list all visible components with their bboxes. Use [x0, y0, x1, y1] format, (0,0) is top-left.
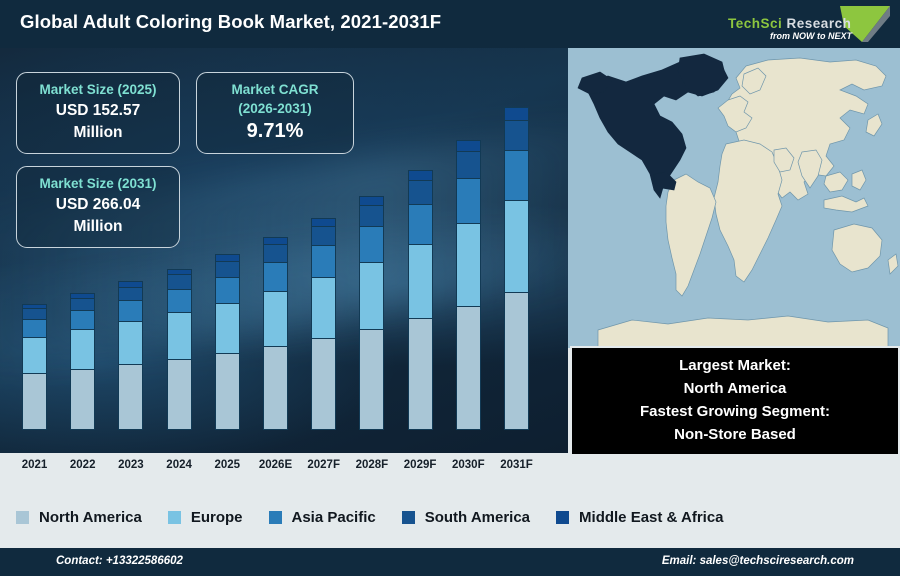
- stat-card-unit: Million: [17, 216, 179, 238]
- bar-segment: [408, 244, 433, 318]
- stat-card-label: Market Size (2025): [17, 81, 179, 100]
- bar-segment: [359, 226, 384, 262]
- x-axis-tick-label: 2027F: [300, 459, 347, 471]
- logo-tagline: from NOW to NEXT: [770, 31, 852, 41]
- bar-segment: [215, 277, 240, 303]
- bar-segment: [456, 178, 481, 223]
- bar-column: [504, 107, 529, 430]
- stat-card-market-cagr: Market CAGR (2026-2031) 9.71%: [196, 72, 354, 154]
- bar-segment: [167, 274, 192, 288]
- bar-segment: [408, 318, 433, 430]
- logo-text-techsci: TechSci: [728, 16, 782, 31]
- bar-segment: [215, 353, 240, 430]
- bar-segment: [456, 223, 481, 305]
- stat-card-value: USD 266.04: [17, 194, 179, 216]
- stat-card-market-size-2031: Market Size (2031) USD 266.04 Million: [16, 166, 180, 248]
- bar-segment: [22, 308, 47, 319]
- legend-item[interactable]: Europe: [168, 509, 243, 526]
- stat-card-value: USD 152.57: [17, 100, 179, 122]
- bar-segment: [167, 289, 192, 313]
- stat-card-label-period: (2026-2031): [197, 100, 353, 119]
- legend-swatch-icon: [168, 511, 181, 524]
- world-map-svg: [568, 48, 900, 348]
- bar-column: [167, 269, 192, 430]
- bar-column: [118, 281, 143, 430]
- legend-label: South America: [425, 509, 530, 526]
- legend-label: Asia Pacific: [292, 509, 376, 526]
- bar-segment: [504, 120, 529, 150]
- bar-segment: [118, 364, 143, 430]
- x-axis-tick-label: 2022: [59, 459, 106, 471]
- bar-segment: [118, 300, 143, 321]
- stat-card-label: Market Size (2031): [17, 175, 179, 194]
- bar-segment: [263, 244, 288, 262]
- bar-segment: [504, 292, 529, 430]
- legend-swatch-icon: [16, 511, 29, 524]
- bar-segment: [70, 310, 95, 329]
- legend-swatch-icon: [269, 511, 282, 524]
- x-axis-tick-label: 2024: [156, 459, 203, 471]
- bar-column: [22, 304, 47, 430]
- x-axis-tick-label: 2028F: [348, 459, 395, 471]
- header-bar: Global Adult Coloring Book Market, 2021-…: [0, 0, 900, 48]
- info-line-fastest-segment-label: Fastest Growing Segment:: [640, 401, 830, 424]
- bar-segment: [167, 312, 192, 359]
- bar-segment: [408, 170, 433, 180]
- bar-segment: [215, 303, 240, 353]
- bar-column: [408, 170, 433, 430]
- legend-swatch-icon: [402, 511, 415, 524]
- bar-column: [215, 254, 240, 430]
- x-axis-tick-label: 2031F: [493, 459, 540, 471]
- bar-segment: [311, 338, 336, 430]
- legend-label: North America: [39, 509, 142, 526]
- bar-segment: [504, 150, 529, 200]
- bar-column: [311, 218, 336, 430]
- page-title: Global Adult Coloring Book Market, 2021-…: [20, 11, 441, 33]
- bar-segment: [22, 373, 47, 430]
- bar-segment: [359, 262, 384, 329]
- bar-column: [70, 293, 95, 430]
- bar-segment: [504, 107, 529, 119]
- key-insights-box: Largest Market: North America Fastest Gr…: [570, 346, 900, 456]
- stat-card-label: Market CAGR: [197, 81, 353, 100]
- bar-segment: [215, 261, 240, 277]
- bar-segment: [456, 140, 481, 151]
- bar-segment: [70, 369, 95, 430]
- legend-item[interactable]: Middle East & Africa: [556, 509, 723, 526]
- world-map: [568, 48, 900, 348]
- x-axis-tick-label: 2026E: [252, 459, 299, 471]
- bar-segment: [263, 262, 288, 291]
- legend-item[interactable]: North America: [16, 509, 142, 526]
- legend-item[interactable]: South America: [402, 509, 530, 526]
- legend-label: Middle East & Africa: [579, 509, 723, 526]
- bar-segment: [118, 321, 143, 364]
- info-line-largest-market-value: North America: [684, 378, 787, 401]
- legend-swatch-icon: [556, 511, 569, 524]
- bar-segment: [311, 226, 336, 245]
- bar-segment: [22, 337, 47, 373]
- bar-column: [456, 140, 481, 430]
- bar-column: [359, 196, 384, 430]
- x-axis-tick-label: 2030F: [445, 459, 492, 471]
- footer-contact: Contact: +13322586602: [56, 555, 183, 567]
- bar-segment: [311, 245, 336, 277]
- bar-segment: [118, 287, 143, 300]
- stat-card-market-size-2025: Market Size (2025) USD 152.57 Million: [16, 72, 180, 154]
- x-axis-tick-label: 2023: [107, 459, 154, 471]
- bar-segment: [359, 196, 384, 205]
- bar-segment: [311, 277, 336, 338]
- techsci-research-logo: TechSci Research from NOW to NEXT: [722, 2, 894, 46]
- logo-text-research: Research: [782, 16, 851, 31]
- bar-segment: [504, 200, 529, 292]
- x-axis-tick-label: 2021: [11, 459, 58, 471]
- legend-label: Europe: [191, 509, 243, 526]
- bar-segment: [408, 180, 433, 204]
- x-axis-tick-label: 2025: [204, 459, 251, 471]
- bar-segment: [70, 298, 95, 310]
- bar-segment: [359, 329, 384, 430]
- bar-segment: [263, 237, 288, 244]
- info-line-fastest-segment-value: Non-Store Based: [674, 424, 796, 447]
- bar-segment: [22, 319, 47, 337]
- legend-item[interactable]: Asia Pacific: [269, 509, 376, 526]
- infographic-root: Global Adult Coloring Book Market, 2021-…: [0, 0, 900, 576]
- bar-segment: [456, 151, 481, 178]
- info-line-largest-market-label: Largest Market:: [679, 355, 791, 378]
- bar-segment: [263, 346, 288, 430]
- bar-segment: [359, 205, 384, 227]
- footer-bar: Contact: +13322586602 Email: sales@techs…: [0, 548, 900, 576]
- x-axis-tick-label: 2029F: [397, 459, 444, 471]
- footer-email: Email: sales@techsciresearch.com: [662, 555, 854, 567]
- stat-card-value: 9.71%: [197, 118, 353, 145]
- stat-card-unit: Million: [17, 122, 179, 144]
- bar-column: [263, 237, 288, 430]
- bar-segment: [456, 306, 481, 430]
- chart-legend: North AmericaEuropeAsia PacificSouth Ame…: [0, 486, 900, 548]
- bar-segment: [167, 359, 192, 430]
- logo-wordmark: TechSci Research: [728, 16, 851, 31]
- bar-segment: [408, 204, 433, 244]
- bar-segment: [263, 291, 288, 346]
- bar-segment: [311, 218, 336, 226]
- bar-segment: [70, 329, 95, 368]
